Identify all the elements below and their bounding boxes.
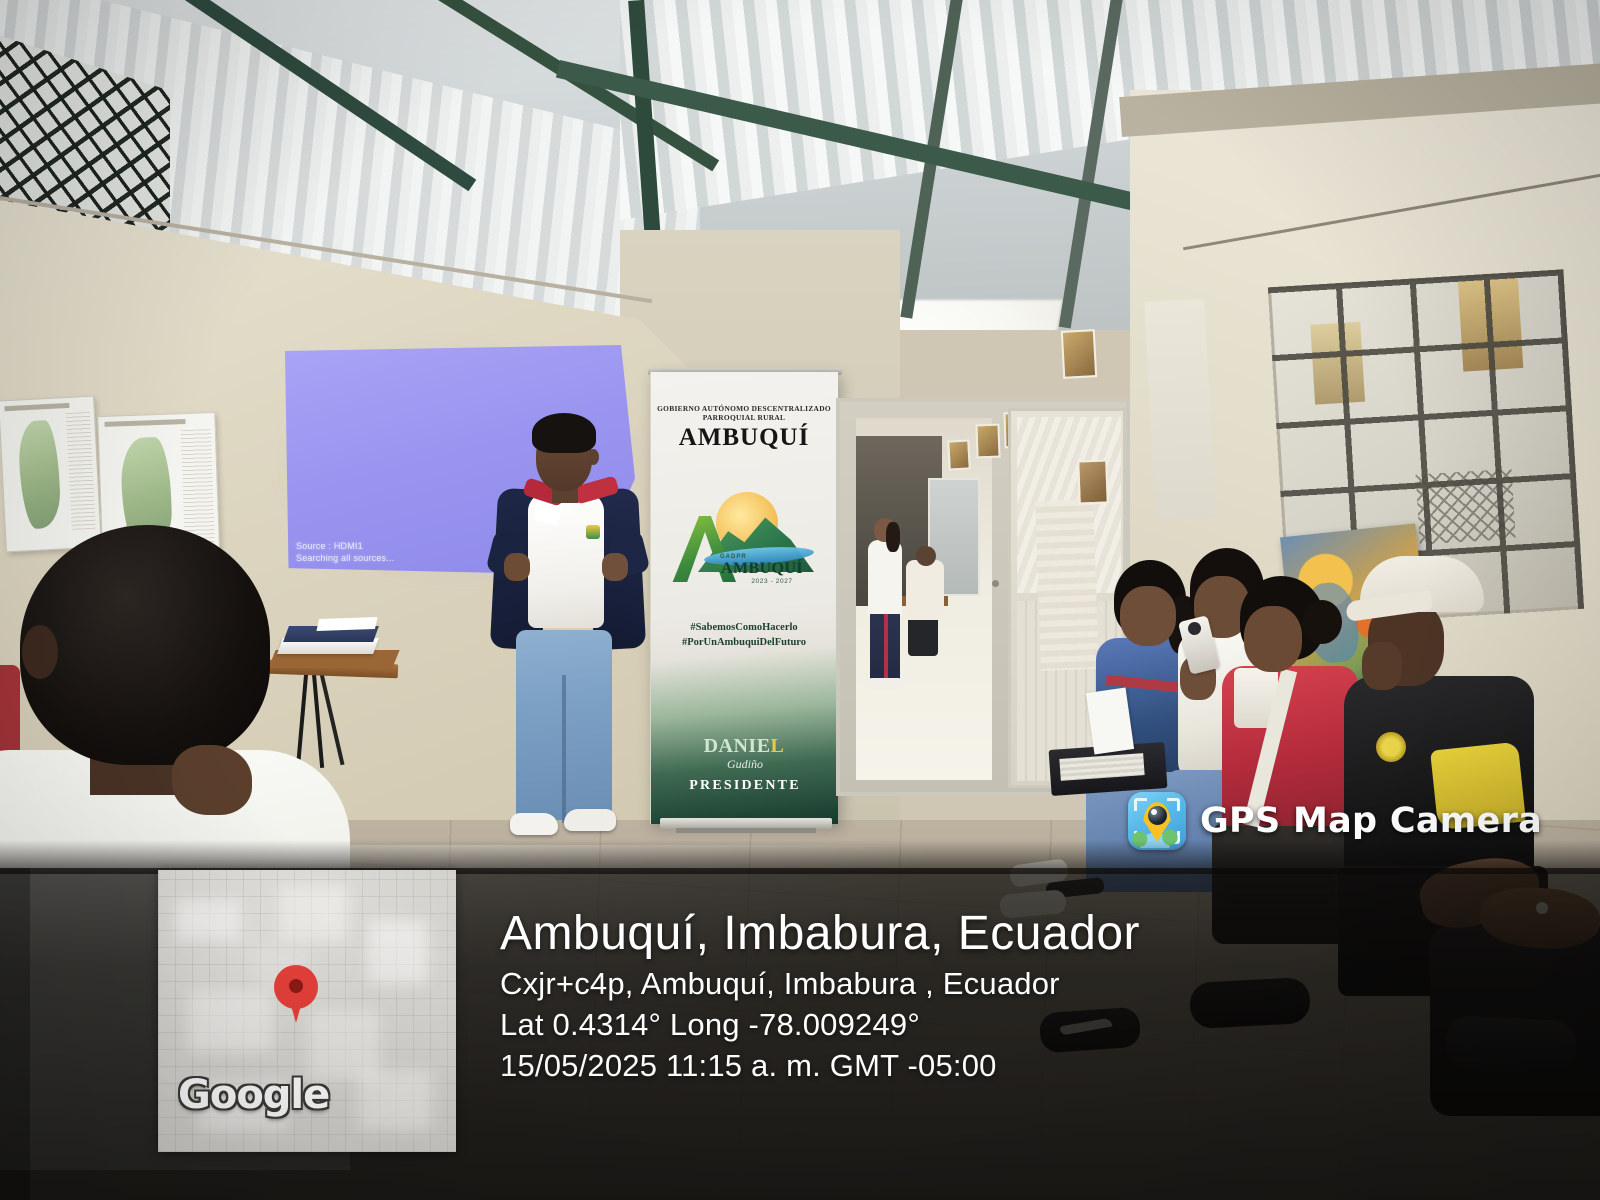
banner-government-line: GOBIERNO AUTÓNOMO DESCENTRALIZADO PARROQ… (654, 404, 834, 422)
office-worker-body (906, 560, 944, 620)
poster-legend (65, 412, 96, 530)
audience-hand (1362, 642, 1402, 690)
map-block (176, 900, 240, 940)
poster-map-shape (17, 420, 62, 530)
presenter-jeans-seam (562, 675, 566, 823)
location-coordinates: Lat 0.4314° Long -78.009249° (500, 1004, 1520, 1045)
presenter-ear (588, 449, 599, 465)
presenter-hand-left (504, 553, 530, 581)
banner-candidate-signature: Gudiño (690, 757, 800, 772)
jacket-emblem (1376, 732, 1406, 762)
loose-paper (316, 617, 377, 631)
poster-title-bar (4, 402, 70, 410)
candidate-name-main: DANIE (704, 735, 771, 757)
banner-candidate-role: PRESIDENTE (672, 778, 818, 794)
gps-map-camera-label: GPS Map Camera (1200, 801, 1542, 841)
audience-hair-bun (1302, 600, 1342, 644)
map-pin-icon (274, 965, 318, 1023)
map-block (368, 920, 428, 984)
map-block (278, 886, 348, 942)
banner-logo: GADPR AMBUQUÍ 2023 - 2027 (668, 488, 820, 608)
handheld-paper (1086, 688, 1134, 755)
door-handle[interactable] (992, 580, 999, 587)
location-title: Ambuquí, Imbabura, Ecuador (500, 905, 1520, 963)
framed-picture (1077, 459, 1109, 504)
logo-wordmark: AMBUQUÍ (704, 560, 820, 578)
framed-picture (975, 424, 1000, 459)
framed-picture (947, 439, 971, 470)
banner-base-shadow (676, 828, 816, 833)
banner-parish-name: AMBUQUÍ (654, 424, 834, 452)
poster-title-bar (104, 419, 185, 427)
presenter-shoe-left (510, 813, 558, 835)
location-address: Cxjr+c4p, Ambuquí, Imbabura , Ecuador (500, 963, 1520, 1004)
banner-hashtag-1: #SabemosComoHacerlo (654, 620, 834, 635)
presenter-person (470, 405, 660, 865)
wall-panel (1144, 299, 1215, 522)
viewfinder-corner-icon (1134, 798, 1147, 811)
presenter-hair (532, 413, 596, 453)
foreground-hand (172, 745, 252, 815)
photo-canvas: Source : HDMI1 Searching all sources... … (0, 0, 1600, 1200)
presenter-hand-right (602, 553, 628, 581)
standing-woman-shoes (866, 678, 904, 690)
map-block (188, 990, 272, 1052)
candidate-name-accent: L (771, 735, 785, 757)
banner-hashtag-2: #PorUnAmbuquiDelFuturo (654, 635, 834, 650)
location-overlay-text: Ambuquí, Imbabura, Ecuador Cxjr+c4p, Amb… (500, 905, 1520, 1086)
banner-candidate-name: DANIEL (680, 735, 808, 758)
pin-tail (288, 995, 304, 1023)
google-watermark: Google (178, 1072, 329, 1118)
presenter-shirt-logo (586, 525, 600, 539)
presenter-shoe-right (564, 809, 616, 831)
standing-woman-body (868, 540, 902, 616)
office-worker-head (916, 546, 936, 566)
standing-woman-hair (886, 522, 900, 552)
audience-face (1244, 606, 1302, 672)
overlay-left-edge (0, 868, 30, 1200)
logo-term-years: 2023 - 2027 (724, 578, 820, 585)
banner-hashtags: #SabemosComoHacerlo #PorUnAmbuquiDelFutu… (654, 620, 834, 650)
map-block (358, 1070, 432, 1130)
foreground-ear (22, 625, 58, 679)
pin-center-dot (289, 979, 303, 993)
camera-lens-icon (1148, 806, 1167, 825)
viewfinder-corner-icon (1167, 798, 1180, 811)
doorway-opening[interactable] (856, 418, 992, 780)
lens-glint-icon (1151, 809, 1157, 815)
standing-woman-pant-stripe (884, 614, 888, 678)
location-timestamp: 15/05/2025 11:15 a. m. GMT -05:00 (500, 1045, 1520, 1086)
framed-picture (1061, 329, 1097, 379)
